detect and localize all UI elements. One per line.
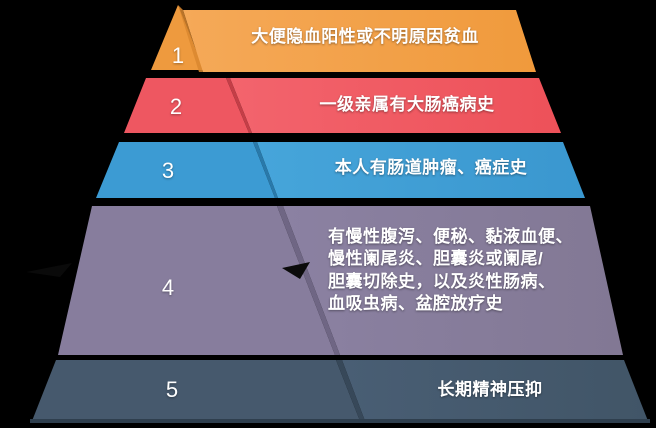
level-1-banner — [183, 10, 536, 72]
pyramid-diagram: 1 2 3 4 5 大便隐血阳性或不明原因贫血 一级亲属有大肠癌病史 本人有肠道… — [0, 0, 656, 428]
pyramid-base-line — [30, 419, 650, 423]
left-arrow-notch-icon — [26, 263, 72, 277]
level-5-core — [32, 360, 360, 421]
level-3-core — [96, 142, 275, 198]
level-4-banner — [283, 206, 623, 355]
pyramid-graphic — [0, 0, 656, 428]
level-5-banner — [342, 360, 648, 421]
level-2-banner — [230, 78, 561, 133]
level-3-banner — [257, 142, 585, 198]
